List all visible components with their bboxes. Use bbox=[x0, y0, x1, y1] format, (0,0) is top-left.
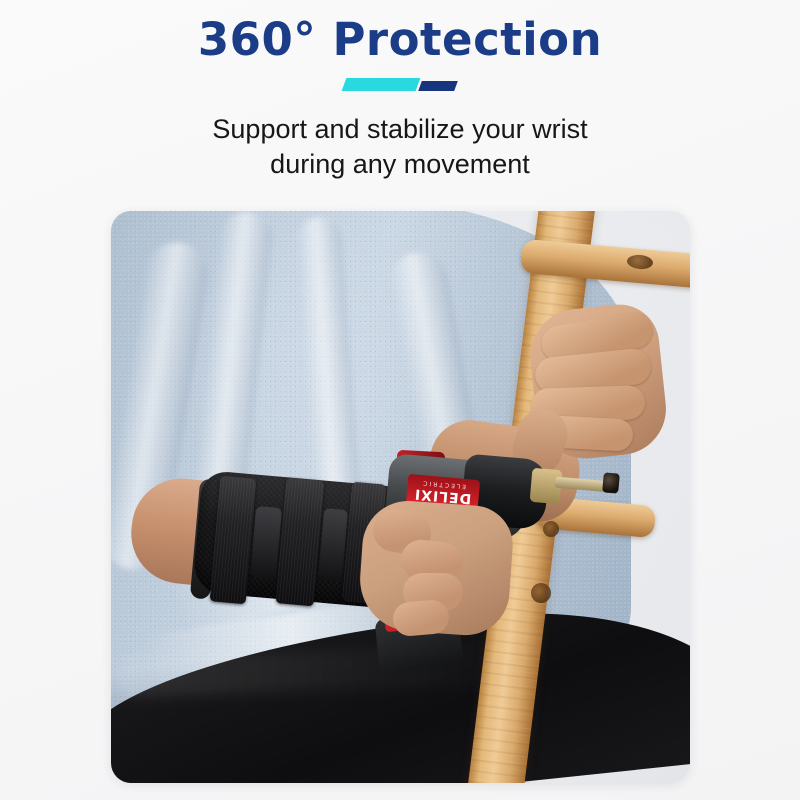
page-title: 360° Protection bbox=[0, 14, 800, 66]
product-feature-page: 360° Protection Support and stabilize yo… bbox=[0, 0, 800, 800]
photo-scene: DELIXI ELECTRIC bbox=[111, 211, 690, 783]
wood-knot bbox=[543, 521, 559, 537]
header: 360° Protection Support and stabilize yo… bbox=[0, 0, 800, 181]
subtitle-line-2: during any movement bbox=[0, 147, 800, 182]
title-divider bbox=[344, 78, 456, 91]
screw bbox=[602, 472, 620, 493]
wood-knot bbox=[531, 583, 551, 603]
divider-navy-bar bbox=[418, 81, 458, 91]
product-photo: DELIXI ELECTRIC bbox=[111, 211, 690, 783]
subtitle-line-1: Support and stabilize your wrist bbox=[0, 112, 800, 147]
divider-cyan-bar bbox=[342, 78, 421, 91]
subtitle: Support and stabilize your wrist during … bbox=[0, 112, 800, 182]
